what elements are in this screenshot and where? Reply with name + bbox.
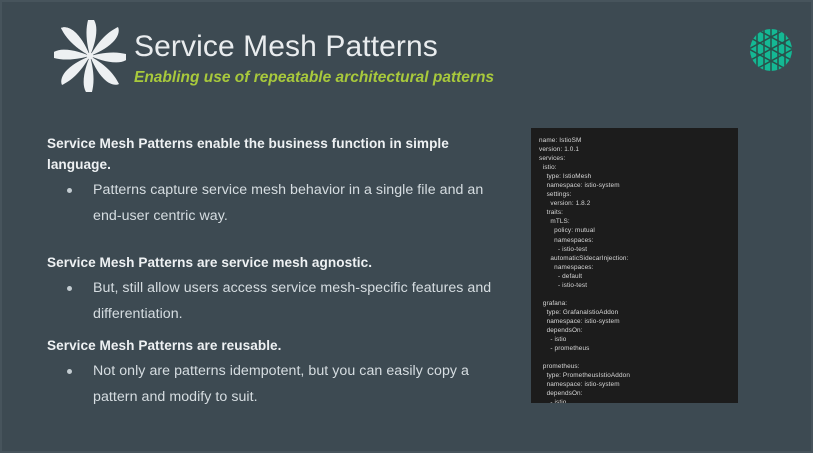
bullet-list: Patterns capture service mesh behavior i… — [47, 177, 512, 229]
content-lead: Service Mesh Patterns are reusable. — [47, 335, 512, 356]
content-block: Service Mesh Patterns are reusable. Not … — [47, 335, 512, 410]
content-lead: Service Mesh Patterns enable the busines… — [47, 133, 512, 175]
bullet-list: But, still allow users access service me… — [47, 275, 512, 327]
list-item-label: Patterns capture service mesh behavior i… — [93, 182, 483, 224]
slide-header: Service Mesh Patterns Enabling use of re… — [2, 2, 813, 102]
layer5-mesh-circle-logo — [745, 24, 797, 76]
list-item: Patterns capture service mesh behavior i… — [47, 177, 512, 229]
content-block: Service Mesh Patterns are service mesh a… — [47, 252, 512, 327]
yaml-code-panel: name: IstioSM version: 1.0.1 services: i… — [531, 128, 738, 403]
service-mesh-patterns-pinwheel-logo — [54, 20, 126, 92]
block-spacer — [47, 229, 512, 252]
bullet-dot-icon — [67, 286, 72, 291]
content-lead: Service Mesh Patterns are service mesh a… — [47, 252, 512, 273]
list-item: Not only are patterns idempotent, but yo… — [47, 358, 512, 410]
list-item: But, still allow users access service me… — [47, 275, 512, 327]
page-title: Service Mesh Patterns — [134, 28, 494, 66]
bullet-dot-icon — [67, 369, 72, 374]
list-item-label: Not only are patterns idempotent, but yo… — [93, 363, 469, 405]
page-subtitle: Enabling use of repeatable architectural… — [134, 67, 494, 89]
yaml-code-text: name: IstioSM version: 1.0.1 services: i… — [539, 136, 738, 403]
title-group: Service Mesh Patterns Enabling use of re… — [134, 28, 494, 89]
block-spacer — [47, 327, 512, 335]
bullet-list: Not only are patterns idempotent, but yo… — [47, 358, 512, 410]
content-body: Service Mesh Patterns enable the busines… — [47, 133, 512, 410]
content-block: Service Mesh Patterns enable the busines… — [47, 133, 512, 229]
list-item-label: But, still allow users access service me… — [93, 280, 491, 322]
bullet-dot-icon — [67, 188, 72, 193]
slide-canvas: Service Mesh Patterns Enabling use of re… — [0, 0, 813, 453]
